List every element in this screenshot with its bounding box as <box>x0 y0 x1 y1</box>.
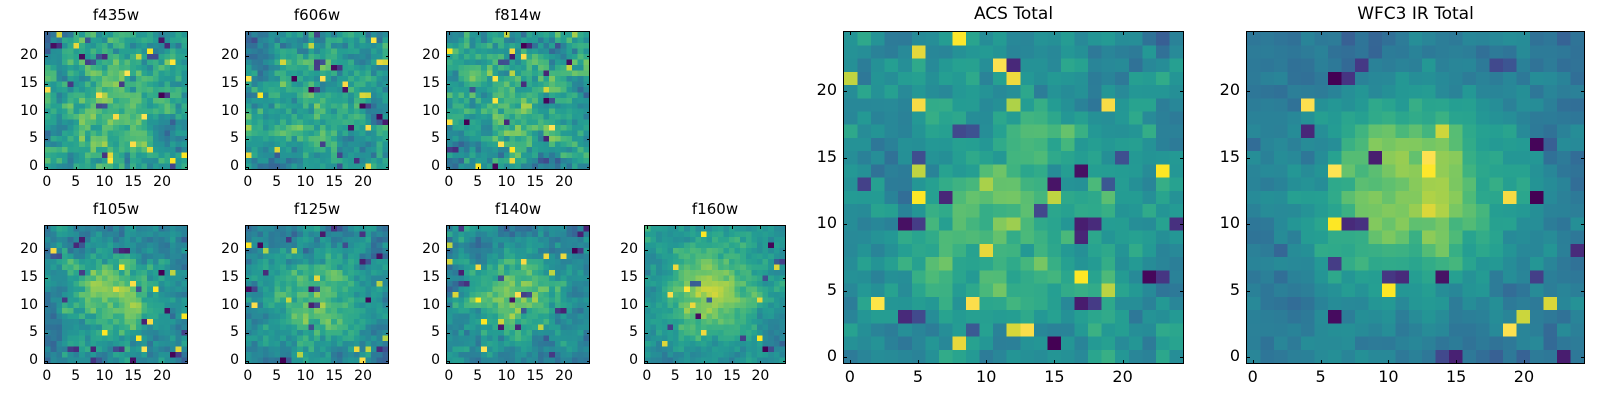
y-tickmark <box>1246 91 1250 92</box>
y-tick-label: 0 <box>1200 348 1240 364</box>
y-tick-label: 15 <box>1200 149 1240 165</box>
y-tick-label: 5 <box>1200 282 1240 298</box>
x-tickmark <box>1321 31 1322 35</box>
y-tickmark <box>1581 158 1585 159</box>
x-tickmark <box>1253 31 1254 35</box>
heatmap-axes-wfc3-ir-total <box>1246 31 1585 364</box>
y-tickmark <box>1246 291 1250 292</box>
x-tickmark <box>1456 360 1457 364</box>
x-tick-label: 5 <box>1296 369 1346 385</box>
heatmap-image-wfc3-ir-total <box>1247 32 1584 363</box>
y-tick-label: 20 <box>1200 82 1240 98</box>
panel-title-wfc3-ir-total: WFC3 IR Total <box>1246 6 1585 23</box>
x-tickmark <box>1321 360 1322 364</box>
y-tickmark <box>1246 224 1250 225</box>
y-tick-label: 10 <box>1200 215 1240 231</box>
x-tick-label: 15 <box>1431 369 1481 385</box>
x-tickmark <box>1456 31 1457 35</box>
x-tickmark <box>1388 31 1389 35</box>
x-tick-label: 10 <box>1363 369 1413 385</box>
figure-canvas: f435w0510152005101520f606w05101520051015… <box>0 0 1600 400</box>
y-tickmark <box>1246 158 1250 159</box>
y-tickmark <box>1246 357 1250 358</box>
y-tickmark <box>1581 224 1585 225</box>
x-tick-label: 20 <box>1499 369 1549 385</box>
x-tickmark <box>1388 360 1389 364</box>
x-tickmark <box>1524 360 1525 364</box>
panel-wfc3-ir-total: WFC3 IR Total0510152005101520 <box>0 0 1600 400</box>
x-tick-label: 0 <box>1228 369 1278 385</box>
x-tickmark <box>1524 31 1525 35</box>
x-tickmark <box>1253 360 1254 364</box>
y-tickmark <box>1581 291 1585 292</box>
y-tickmark <box>1581 91 1585 92</box>
y-tickmark <box>1581 357 1585 358</box>
